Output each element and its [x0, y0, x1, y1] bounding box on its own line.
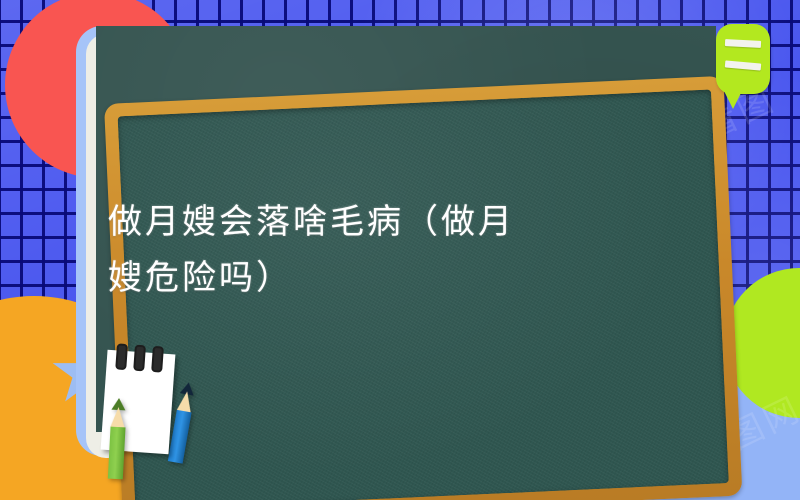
title-card-scene: 看图 看图网 做月嫂会落啥毛病（做月嫂危险吗）	[0, 0, 800, 500]
green-pencil-body	[108, 427, 126, 480]
page-title-line-2: 嫂危险吗）	[108, 258, 293, 298]
page-title: 做月嫂会落啥毛病（做月嫂危险吗）	[108, 194, 708, 306]
blue-pencil-wood	[177, 390, 194, 412]
notepad-spiral-ring	[115, 343, 128, 370]
speech-bubble-tail	[724, 91, 742, 109]
green-pencil-wood	[111, 407, 126, 428]
speech-bubble-body	[716, 24, 770, 94]
notepad-spiral-ring	[133, 345, 146, 372]
speech-bubble-icon	[716, 24, 770, 94]
notepad-spiral-ring	[151, 346, 164, 373]
page-title-line-1: 做月嫂会落啥毛病（做月	[108, 202, 515, 242]
